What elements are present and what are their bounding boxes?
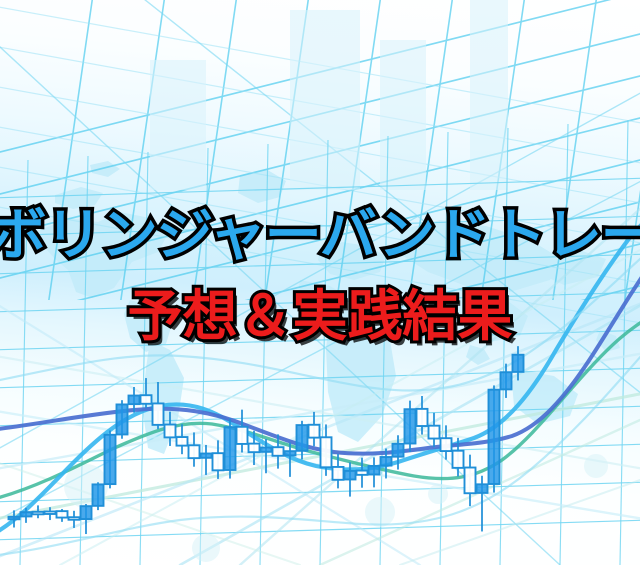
bollinger-band-envelope — [0, 0, 640, 565]
background-gradient — [0, 0, 640, 565]
chart-grid — [0, 0, 640, 565]
candlestick — [285, 443, 296, 477]
candlestick — [393, 435, 404, 469]
candlestick — [297, 421, 308, 460]
candlestick — [201, 445, 212, 475]
candlestick — [489, 385, 500, 492]
candlestick — [213, 440, 224, 479]
candlestick — [477, 476, 488, 532]
candlestick — [321, 424, 332, 475]
candlestick — [333, 454, 344, 488]
candlestick — [345, 462, 356, 496]
candlestick — [9, 510, 20, 527]
thumbnail-canvas: ボリンジャーバンドトレーディング 予想＆実践結果 — [0, 0, 640, 565]
candlestick — [441, 425, 452, 459]
candlestick — [249, 431, 260, 465]
candlestick — [513, 346, 524, 380]
candlestick — [465, 455, 476, 506]
page-title: ボリンジャーバンドトレーディング — [0, 203, 640, 269]
candlestick — [369, 457, 380, 487]
candlestick — [69, 511, 80, 528]
candlestick — [429, 413, 440, 447]
stray-trend-lines — [0, 0, 640, 565]
ma-teal-line — [0, 318, 640, 500]
candlestick — [237, 410, 248, 453]
candlestick — [273, 434, 284, 468]
candlestick — [21, 508, 32, 523]
moving-average-lines — [0, 0, 640, 565]
world-map-silhouette — [0, 0, 640, 565]
ma-dark-blue-line — [0, 268, 640, 454]
candlestick — [33, 505, 44, 518]
candlestick — [309, 412, 320, 446]
ma-light-blue-line — [0, 216, 640, 536]
candlestick — [405, 401, 416, 452]
candlestick — [189, 432, 200, 466]
candlestick — [177, 424, 188, 454]
page-subtitle: 予想＆実践結果 — [0, 285, 640, 347]
candlestick — [153, 382, 164, 429]
candlestick — [357, 458, 368, 488]
candlestick — [417, 396, 428, 435]
candlestick — [45, 507, 56, 520]
candlestick — [225, 419, 236, 479]
candlestick — [57, 509, 68, 522]
headline-group: ボリンジャーバンドトレーディング 予想＆実践結果 — [0, 0, 640, 565]
candlestick — [381, 448, 392, 478]
candlestick — [453, 438, 464, 477]
candlestick — [165, 412, 176, 446]
perspective-grid-overlay — [0, 0, 640, 565]
candlestick — [81, 504, 92, 534]
candlestick — [105, 431, 116, 489]
candlestick — [141, 378, 152, 408]
candlestick — [93, 482, 104, 510]
candlestick-series — [0, 0, 640, 565]
candlestick — [261, 439, 272, 473]
candlestick — [117, 400, 128, 439]
candlestick — [129, 387, 140, 413]
candlestick — [501, 364, 512, 398]
